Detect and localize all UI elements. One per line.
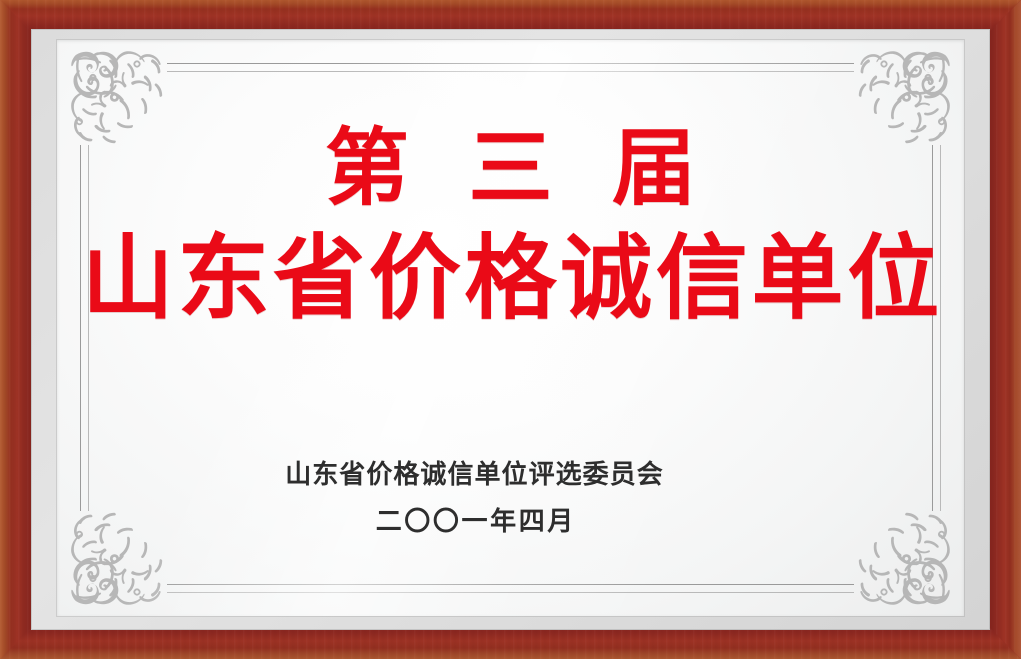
plaque-panel: 第 三 届 山东省价格诚信单位 山东省价格诚信单位评选委员会 二〇〇一年四月 <box>57 40 964 616</box>
frame-right-stile <box>987 0 1021 659</box>
frame-bottom-rail <box>0 625 1021 659</box>
frame-left-stile <box>0 0 34 659</box>
wood-grain-texture <box>0 0 34 659</box>
award-title-line-2: 山东省价格诚信单位 <box>57 232 964 324</box>
award-title-block: 第 三 届 山东省价格诚信单位 <box>57 126 964 324</box>
award-title-line-1: 第 三 届 <box>57 126 964 210</box>
issuing-organization: 山东省价格诚信单位评选委员会 <box>57 459 892 492</box>
wood-grain-texture <box>0 625 1021 659</box>
award-plaque: 第 三 届 山东省价格诚信单位 山东省价格诚信单位评选委员会 二〇〇一年四月 <box>0 0 1021 659</box>
plaque-content: 第 三 届 山东省价格诚信单位 山东省价格诚信单位评选委员会 二〇〇一年四月 <box>57 40 964 616</box>
signature-block: 山东省价格诚信单位评选委员会 二〇〇一年四月 <box>57 459 964 539</box>
issue-date: 二〇〇一年四月 <box>57 501 892 538</box>
wood-grain-texture <box>987 0 1021 659</box>
